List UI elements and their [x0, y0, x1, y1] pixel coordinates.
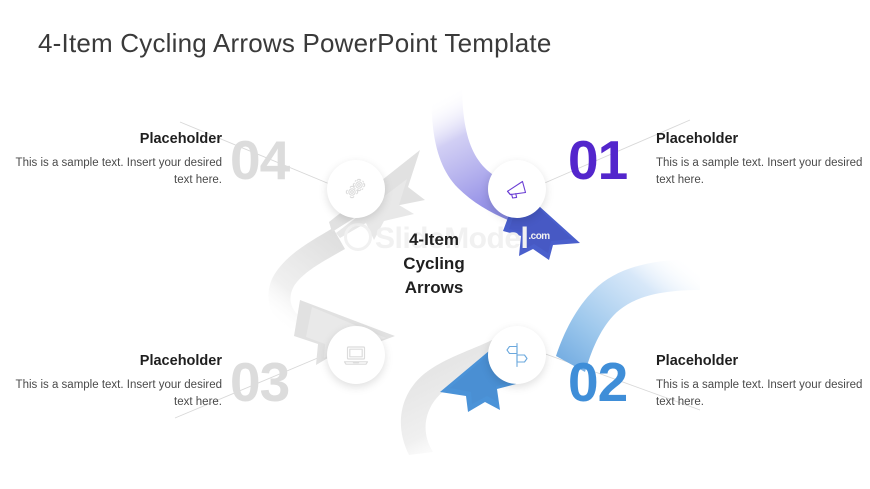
watermark-tm: .com: [528, 231, 549, 242]
icon-circle-04[interactable]: [327, 160, 385, 218]
text-block-01: Placeholder This is a sample text. Inser…: [656, 131, 870, 189]
step-number-02: 02: [568, 355, 627, 410]
slide-canvas: 4-Item Cycling Arrows PowerPoint Templat…: [0, 0, 870, 489]
placeholder-body-02: This is a sample text. Insert your desir…: [656, 377, 870, 411]
placeholder-heading-04: Placeholder: [0, 131, 222, 147]
text-block-03: Placeholder This is a sample text. Inser…: [0, 353, 222, 411]
text-block-04: Placeholder This is a sample text. Inser…: [0, 131, 222, 189]
icon-circle-03[interactable]: [327, 326, 385, 384]
center-label-line2: Cycling: [375, 252, 493, 276]
laptop-icon: [341, 340, 371, 370]
icon-circle-01[interactable]: [488, 160, 546, 218]
placeholder-heading-01: Placeholder: [656, 131, 870, 147]
text-block-02: Placeholder This is a sample text. Inser…: [656, 353, 870, 411]
center-label: 4-Item Cycling Arrows: [375, 228, 493, 300]
watermark-ring-icon: [344, 223, 372, 251]
placeholder-body-03: This is a sample text. Insert your desir…: [0, 377, 222, 411]
step-number-04: 04: [230, 133, 289, 188]
step-number-03: 03: [230, 355, 289, 410]
placeholder-body-01: This is a sample text. Insert your desir…: [656, 155, 870, 189]
center-label-line1: 4-Item: [375, 228, 493, 252]
placeholder-body-04: This is a sample text. Insert your desir…: [0, 155, 222, 189]
icon-circle-02[interactable]: [488, 326, 546, 384]
placeholder-heading-03: Placeholder: [0, 353, 222, 369]
center-label-line3: Arrows: [375, 276, 493, 300]
megaphone-icon: [502, 174, 532, 204]
placeholder-heading-02: Placeholder: [656, 353, 870, 369]
step-number-01: 01: [568, 133, 627, 188]
gears-icon: [341, 174, 371, 204]
signpost-icon: [502, 340, 532, 370]
